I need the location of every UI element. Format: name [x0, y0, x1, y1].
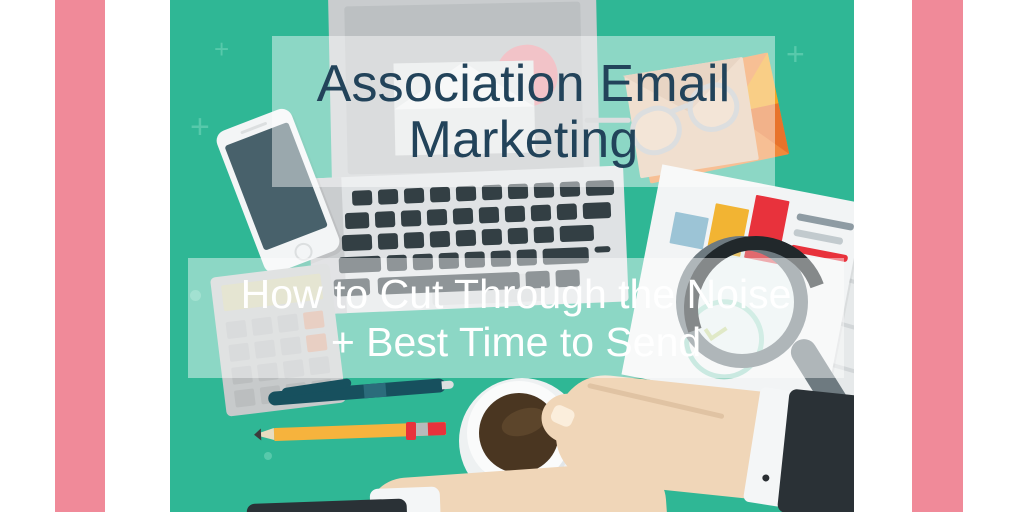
keyboard-key [482, 229, 503, 246]
keyboard-key [594, 246, 610, 253]
subtitle-line-2: + Best Time to Send [331, 318, 701, 366]
finger-crease [587, 383, 725, 419]
pencil-lead [254, 428, 261, 440]
keyboard-key [352, 190, 373, 206]
pencil-eraser [428, 422, 446, 436]
small-red-object [406, 422, 416, 440]
keyboard-key [557, 203, 578, 220]
pen-tip [441, 380, 454, 389]
keyboard-key [534, 226, 555, 243]
dot-decor-icon [264, 452, 272, 460]
right-pink-band [912, 0, 963, 512]
page-subtitle: How to Cut Through the Noise + Best Time… [188, 256, 844, 380]
keyboard-key [583, 202, 612, 219]
keyboard-key [531, 205, 552, 222]
suit-sleeve [777, 388, 854, 512]
keyboard-key [401, 210, 422, 227]
pencil [274, 422, 446, 441]
keyboard-key [505, 206, 526, 223]
title-line-1: Association Email [317, 56, 731, 112]
keyboard-key [456, 230, 477, 247]
keyboard-key [345, 212, 370, 229]
page-title: Association Email Marketing [272, 32, 775, 192]
keyboard-key [453, 208, 474, 225]
keyboard-key [560, 225, 595, 242]
banner-canvas: + + + + [0, 0, 1024, 512]
plus-decor-icon: + [214, 36, 229, 62]
keyboard-key [375, 211, 396, 228]
suit-sleeve-secondary [247, 498, 409, 512]
pen-grip [363, 383, 386, 399]
keyboard-key [479, 207, 500, 224]
keyboard-key [404, 232, 425, 249]
calculator-key [234, 388, 256, 407]
chart-legend-line [796, 213, 854, 231]
keyboard-key [378, 233, 399, 250]
keyboard-key [342, 234, 373, 251]
title-line-2: Marketing [408, 112, 638, 168]
subtitle-line-1: How to Cut Through the Noise [241, 270, 792, 318]
keyboard-key [508, 227, 529, 244]
plus-decor-icon: + [190, 110, 210, 144]
keyboard-key [427, 209, 448, 226]
plus-decor-icon: + [786, 38, 805, 70]
left-pink-band [55, 0, 105, 512]
keyboard-key [430, 231, 451, 248]
